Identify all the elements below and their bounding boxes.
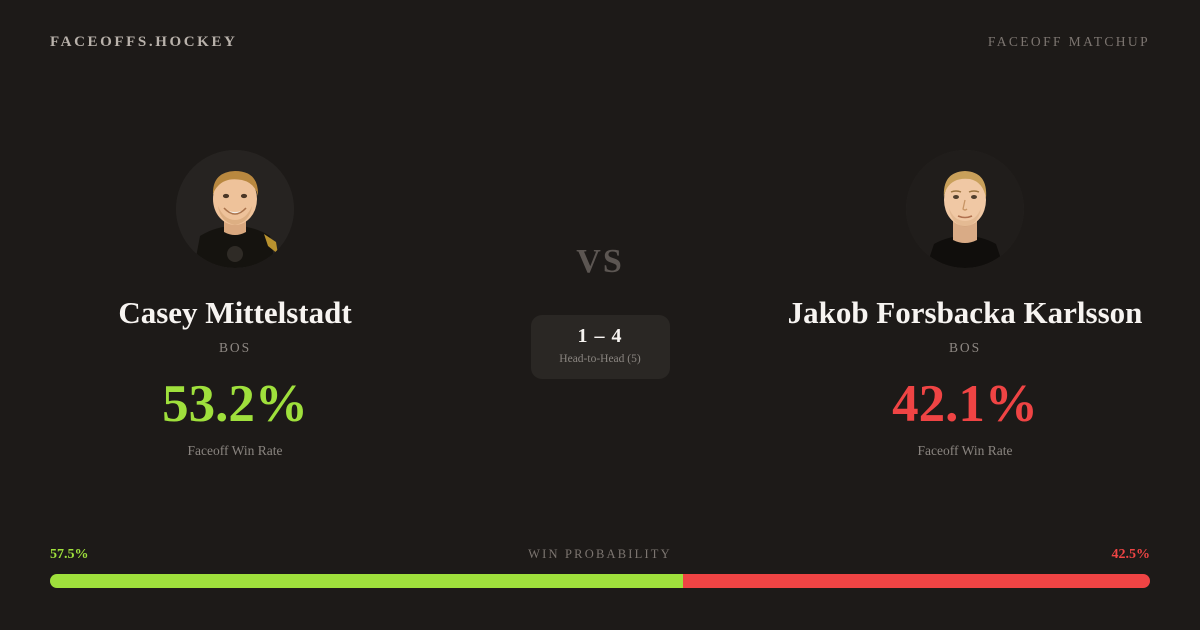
head-to-head-label: Head-to-Head (5)	[559, 354, 640, 366]
player-winrate-caption-left: Faceoff Win Rate	[188, 443, 283, 459]
player-team-left: BOS	[219, 340, 251, 356]
player-headshot-left	[176, 150, 294, 268]
player-headshot-right	[906, 150, 1024, 268]
vs-label: VS	[576, 245, 623, 279]
win-probability-title: WIN PROBABILITY	[528, 547, 672, 562]
player-card-left[interactable]: Casey Mittelstadt BOS 53.2% Faceoff Win …	[0, 150, 470, 459]
player-winrate-right: 42.1%	[892, 378, 1038, 431]
win-probability-right-value: 42.5%	[1111, 547, 1150, 563]
matchup-section: Casey Mittelstadt BOS 53.2% Faceoff Win …	[0, 150, 1200, 480]
player-card-right[interactable]: Jakob Forsbacka Karlsson BOS 42.1% Faceo…	[730, 150, 1200, 459]
player-name-right: Jakob Forsbacka Karlsson	[788, 297, 1143, 330]
header-tag-label: FACEOFF MATCHUP	[988, 34, 1150, 50]
player-name-left: Casey Mittelstadt	[118, 297, 351, 330]
win-probability-section: 57.5% WIN PROBABILITY 42.5%	[50, 547, 1150, 588]
player-winrate-caption-right: Faceoff Win Rate	[918, 443, 1013, 459]
win-probability-bar-left-segment	[50, 574, 683, 588]
win-probability-left-value: 57.5%	[50, 547, 89, 563]
page-header: FACEOFFS.HOCKEY FACEOFF MATCHUP	[0, 0, 1200, 84]
head-to-head-card[interactable]: 1 – 4 Head-to-Head (5)	[531, 315, 670, 379]
win-probability-labels: 57.5% WIN PROBABILITY 42.5%	[50, 547, 1150, 563]
brand-logo[interactable]: FACEOFFS.HOCKEY	[50, 34, 237, 51]
head-to-head-score: 1 – 4	[578, 326, 623, 346]
win-probability-bar-right-segment	[683, 574, 1151, 588]
win-probability-bar	[50, 574, 1150, 588]
versus-column: VS 1 – 4 Head-to-Head (5)	[470, 150, 730, 379]
player-winrate-left: 53.2%	[162, 378, 308, 431]
player-team-right: BOS	[949, 340, 981, 356]
